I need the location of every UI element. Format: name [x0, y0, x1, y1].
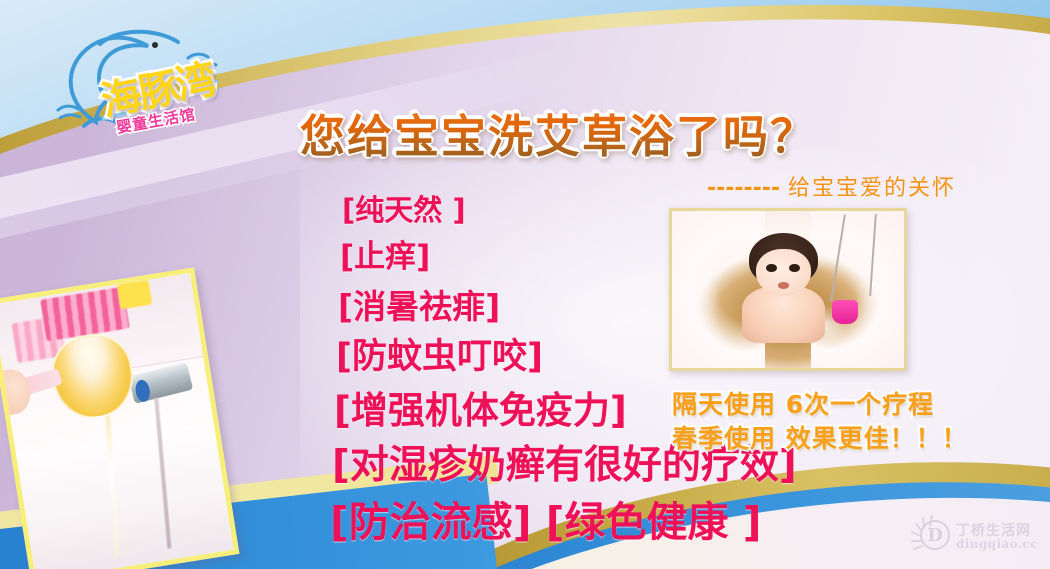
dosage-line-1: 隔天使用 6次一个疗程 [672, 388, 968, 422]
list-item: [防治流感] [绿色健康 ] [330, 502, 856, 543]
yellow-object [117, 280, 153, 310]
pink-bath-toy [832, 300, 858, 324]
watermark-logo-mark: D [920, 520, 950, 550]
dosage-instructions: 隔天使用 6次一个疗程 春季使用 效果更佳！！！ [672, 388, 968, 456]
poster-canvas: 海豚湾 婴童生活馆 您给宝宝洗艾草浴了吗？ --------给宝宝爱的关怀 [纯… [0, 0, 1050, 569]
baby-eye-left [766, 264, 777, 272]
tub-rim-left [669, 208, 765, 371]
dosage-line-2: 春季使用 效果更佳！！！ [672, 422, 968, 456]
watermark-site-name-en: dingqiao.cc [956, 537, 1038, 551]
tub-rim-right [811, 208, 907, 371]
baby-eye-right [789, 264, 800, 272]
baby-mouth [778, 282, 790, 288]
baby-bath-photo [669, 208, 907, 371]
page-title: 您给宝宝洗艾草浴了吗？ [300, 100, 817, 165]
site-watermark: D 丁桥生活网 dingqiao.cc [910, 512, 1040, 558]
baby-face [756, 249, 812, 296]
brand-logo: 海豚湾 婴童生活馆 [38, 22, 258, 142]
